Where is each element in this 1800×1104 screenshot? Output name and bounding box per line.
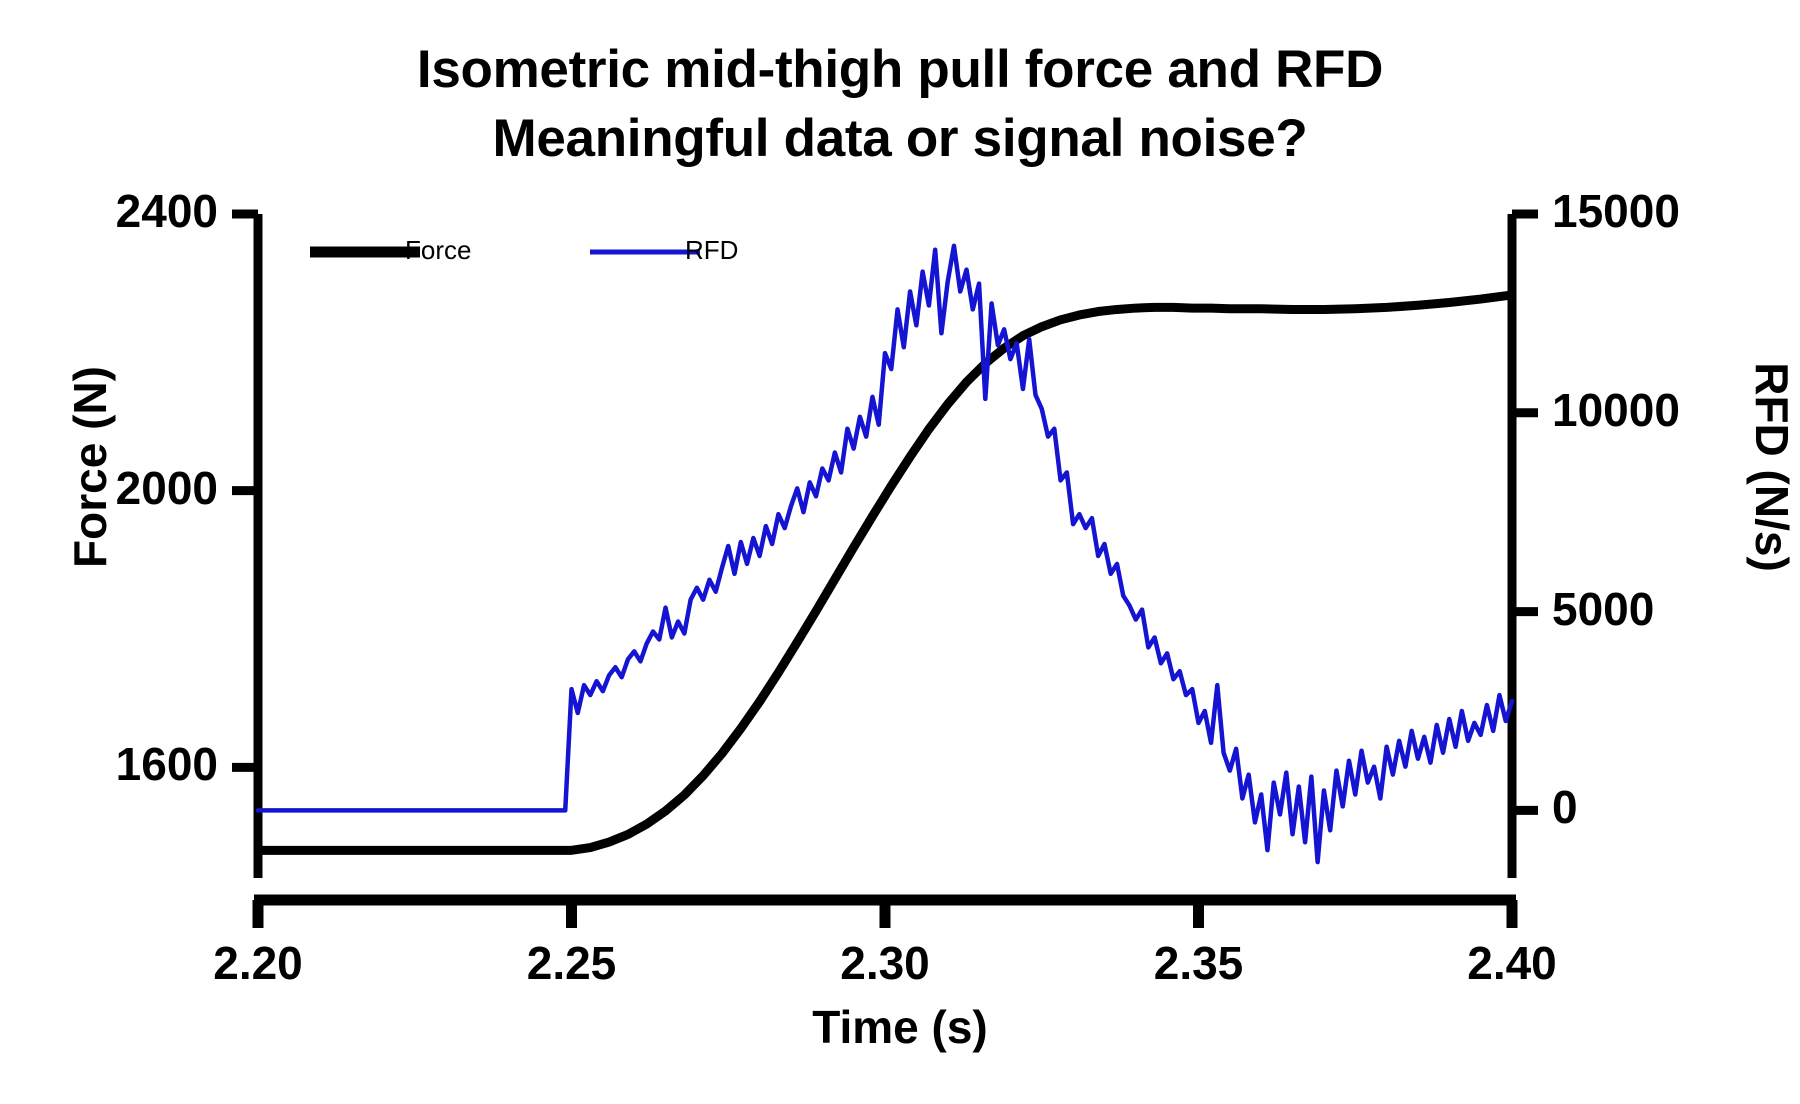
y-axis-right-tick-label: 0 — [1552, 780, 1800, 834]
series-line-rfd — [258, 246, 1512, 862]
y-axis-left-tick-label: 2000 — [0, 461, 218, 515]
legend-label-force: Force — [405, 235, 471, 266]
x-axis-tick-label: 2.35 — [1059, 936, 1339, 990]
y-axis-left-tick-label: 1600 — [0, 737, 218, 791]
x-axis-tick-label: 2.25 — [432, 936, 712, 990]
y-axis-right-tick-label: 5000 — [1552, 582, 1800, 636]
x-axis-tick-label: 2.30 — [745, 936, 1025, 990]
chart-figure: Isometric mid-thigh pull force and RFD M… — [0, 0, 1800, 1104]
x-axis-title: Time (s) — [0, 1000, 1800, 1054]
y-axis-left-tick-label: 2400 — [0, 184, 218, 238]
y-axis-right-title: RFD (N/s) — [1745, 307, 1799, 627]
x-axis-tick-label: 2.40 — [1372, 936, 1652, 990]
y-axis-right-tick-label: 10000 — [1552, 383, 1800, 437]
x-axis-tick-label: 2.20 — [118, 936, 398, 990]
y-axis-right-tick-label: 15000 — [1552, 184, 1800, 238]
legend-label-rfd: RFD — [685, 235, 738, 266]
